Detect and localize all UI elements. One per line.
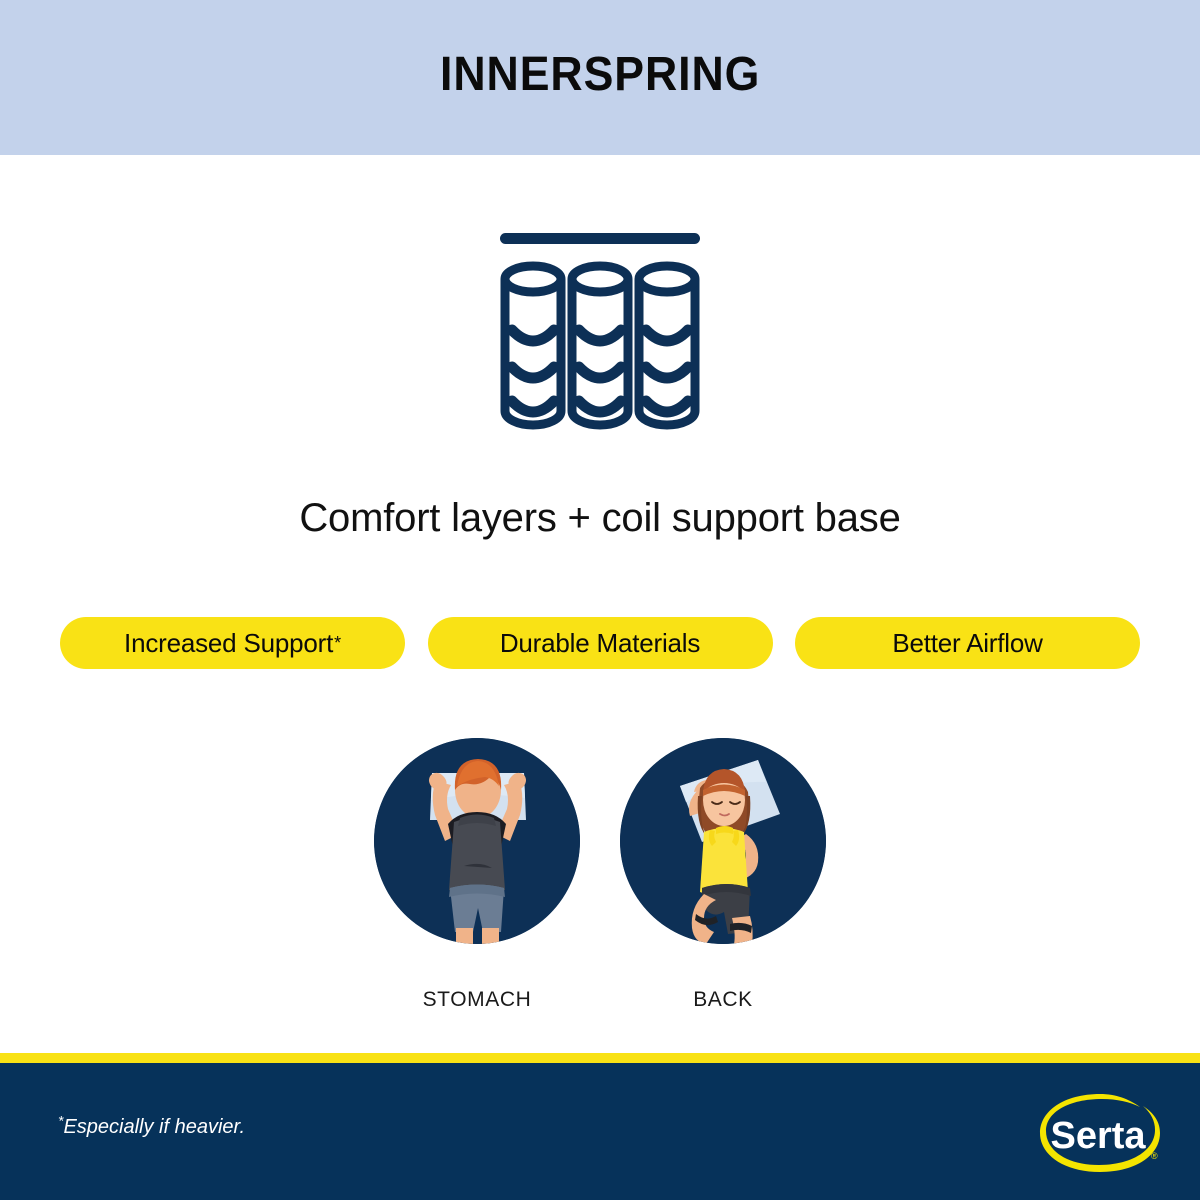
pill-label: Durable Materials bbox=[500, 628, 700, 659]
coil-cylinder-3 bbox=[639, 266, 695, 425]
sleeper-back: BACK bbox=[620, 738, 826, 1012]
pill-label: Better Airflow bbox=[892, 628, 1042, 659]
sleeper-label-back: BACK bbox=[693, 988, 753, 1012]
page-title: INNERSPRING bbox=[440, 51, 760, 99]
stomach-sleeper-illustration bbox=[374, 738, 580, 944]
feature-pill-increased-support[interactable]: Increased Support* bbox=[60, 617, 405, 669]
feature-pill-better-airflow[interactable]: Better Airflow bbox=[795, 617, 1140, 669]
infographic-page: INNERSPRING bbox=[0, 0, 1200, 1200]
serta-logo[interactable]: Serta ® bbox=[1032, 1086, 1168, 1182]
coil-icon-container bbox=[0, 215, 1200, 450]
support-bar bbox=[500, 233, 700, 244]
coil-cylinder-2 bbox=[572, 266, 628, 425]
footnote-label: Especially if heavier. bbox=[63, 1116, 245, 1138]
footer-accent-strip bbox=[0, 1053, 1200, 1063]
footnote-text: *Especially if heavier. bbox=[58, 1116, 245, 1139]
serta-wordmark: Serta bbox=[1050, 1115, 1146, 1157]
back-sleeper-illustration bbox=[620, 738, 826, 944]
coil-stack-icon bbox=[490, 215, 710, 435]
feature-pill-row: Increased Support* Durable Materials Bet… bbox=[60, 617, 1140, 669]
sleeper-label-stomach: STOMACH bbox=[423, 988, 532, 1012]
sleeper-positions-row: STOMACH bbox=[0, 738, 1200, 1020]
coil-cylinders bbox=[505, 266, 695, 425]
registered-mark: ® bbox=[1151, 1151, 1158, 1161]
coil-cylinder-1 bbox=[505, 266, 561, 425]
header-band: INNERSPRING bbox=[0, 0, 1200, 155]
pill-label: Increased Support bbox=[124, 628, 333, 659]
subtitle-text: Comfort layers + coil support base bbox=[0, 496, 1200, 541]
sleeper-stomach: STOMACH bbox=[374, 738, 580, 1012]
feature-pill-durable-materials[interactable]: Durable Materials bbox=[428, 617, 773, 669]
